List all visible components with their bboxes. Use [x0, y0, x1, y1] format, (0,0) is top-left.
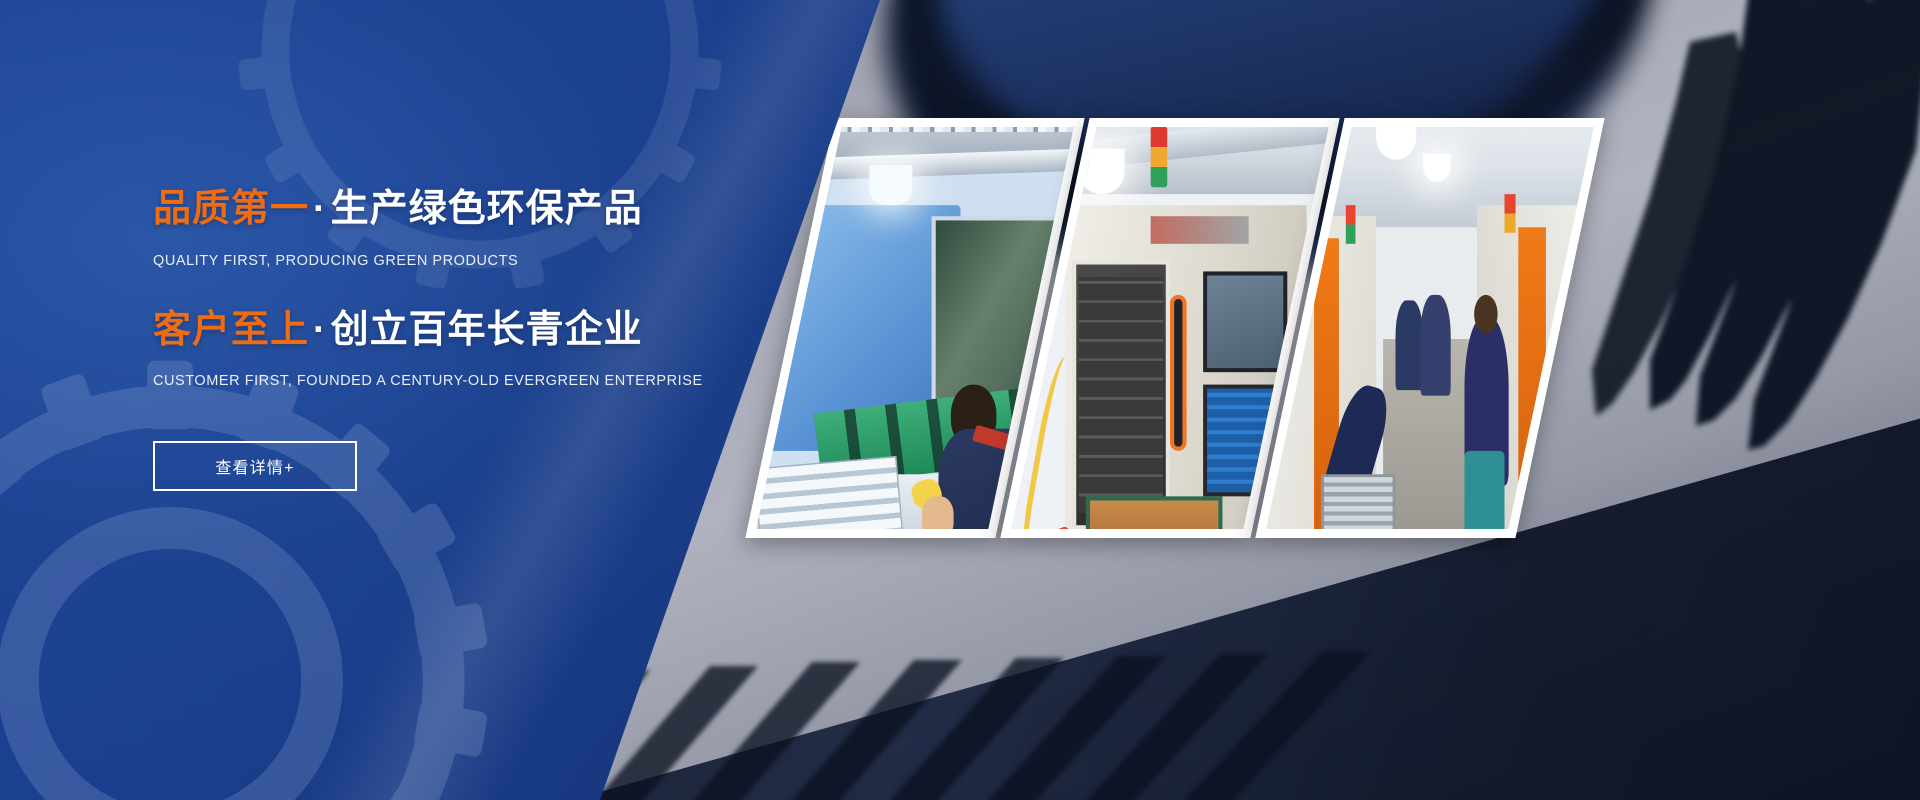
headline-primary-accent: 品质第一: [153, 188, 309, 230]
headline-primary-rest: 生产绿色环保产品: [331, 188, 643, 230]
hero-banner: 品质第一·生产绿色环保产品 QUALITY FIRST, PRODUCING G…: [0, 0, 1920, 800]
headline-primary-separator: ·: [309, 188, 331, 230]
headline-secondary-separator: ·: [309, 309, 331, 351]
subtitle-primary: QUALITY FIRST, PRODUCING GREEN PRODUCTS: [153, 253, 793, 269]
headline-secondary-rest: 创立百年长青企业: [331, 309, 643, 351]
headline-secondary-accent: 客户至上: [153, 309, 309, 351]
view-details-button[interactable]: 查看详情+: [153, 441, 357, 491]
headline-primary: 品质第一·生产绿色环保产品: [153, 186, 793, 234]
headline-secondary: 客户至上·创立百年长青企业: [153, 307, 793, 355]
subtitle-secondary: CUSTOMER FIRST, FOUNDED A CENTURY-OLD EV…: [153, 373, 793, 389]
banner-copy: 品质第一·生产绿色环保产品 QUALITY FIRST, PRODUCING G…: [153, 186, 793, 491]
